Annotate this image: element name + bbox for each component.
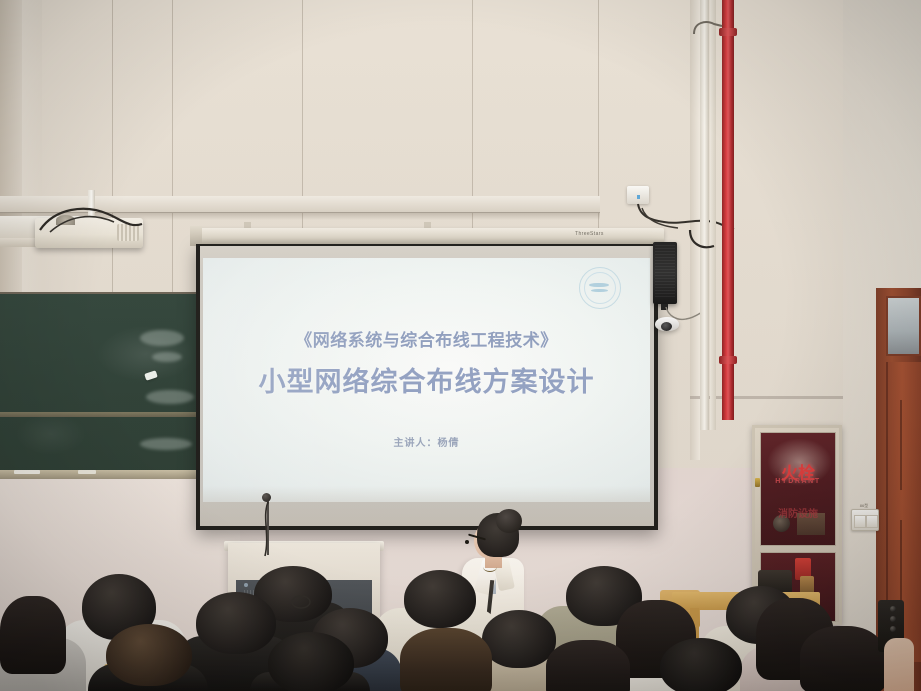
speaker-grill xyxy=(655,245,675,297)
seal-wave-icon xyxy=(589,283,609,287)
door-transom-window xyxy=(886,296,921,356)
phone-camera-lens-icon xyxy=(890,626,896,632)
mic-cable xyxy=(256,500,282,560)
slide-course-title: 《网络系统与综合布线工程技术》 xyxy=(203,326,650,351)
headset-mic-capsule xyxy=(465,540,469,544)
presenter-hair-bun xyxy=(496,509,522,533)
audience-head xyxy=(660,638,742,691)
pipe-collar xyxy=(719,356,737,364)
chalk-on-tray xyxy=(78,470,96,474)
chalkboard-divider xyxy=(0,412,206,417)
door-groove xyxy=(900,400,902,490)
audience-head xyxy=(0,596,66,674)
pipe-hanger-bracket xyxy=(692,18,726,40)
wall-conduit xyxy=(710,0,716,430)
slide-main-title: 小型网络综合布线方案设计 xyxy=(203,360,650,399)
chalk-smudge xyxy=(152,352,182,362)
presenter-necklace xyxy=(483,562,497,572)
chalk-smudge xyxy=(146,390,194,404)
audience-head xyxy=(400,628,492,691)
audience-head xyxy=(482,610,556,668)
phone-camera-lens-icon xyxy=(890,606,896,612)
door-groove xyxy=(900,520,902,610)
screen-brand-label: ThreeStars xyxy=(575,231,604,237)
hydrant-title-en: HYDRANT xyxy=(761,478,835,485)
pipe-hanger-bracket xyxy=(688,228,724,254)
chalk-smudge xyxy=(140,330,184,346)
hydrant-cabinet-lock-icon[interactable] xyxy=(755,478,760,487)
hydrant-subtitle-cn: 消防设施 xyxy=(761,505,835,520)
slide-presenter-line: 主讲人：杨倩 xyxy=(203,434,650,449)
audience-head xyxy=(800,626,886,691)
chalk-on-tray xyxy=(14,470,40,474)
audience-head xyxy=(546,640,630,691)
audience-head xyxy=(196,592,276,654)
seal-wave-icon xyxy=(591,289,608,292)
audience-head xyxy=(404,570,476,628)
eyeglasses-icon xyxy=(290,594,328,610)
access-point-led-icon xyxy=(637,195,640,199)
audience-head xyxy=(268,632,354,691)
university-seal-inner-ring xyxy=(584,272,616,304)
presentation-slide: 《网络系统与综合布线工程技术》 小型网络综合布线方案设计 主讲人：杨倩 xyxy=(203,258,650,502)
light-switch-rocker[interactable] xyxy=(854,515,866,528)
hydrant-cabinet-glass: 火栓 HYDRANT 消防设施 xyxy=(760,432,836,546)
lecture-hall-photo: ThreeStars 《网络系统与综合布线工程技术》 小型网络综合布线方案设计 … xyxy=(0,0,921,691)
projector-cables xyxy=(30,200,160,240)
wall-conduit xyxy=(700,0,709,430)
phone-camera-lens-icon xyxy=(890,616,896,622)
audience-head xyxy=(106,624,192,686)
light-switch-rocker[interactable] xyxy=(866,515,878,528)
hand-holding-phone xyxy=(884,638,914,691)
podium-led-icon xyxy=(244,583,248,587)
camera-lens-icon xyxy=(661,322,672,331)
screen-housing-end-cap xyxy=(190,226,202,246)
chalk-smudge xyxy=(140,438,192,450)
